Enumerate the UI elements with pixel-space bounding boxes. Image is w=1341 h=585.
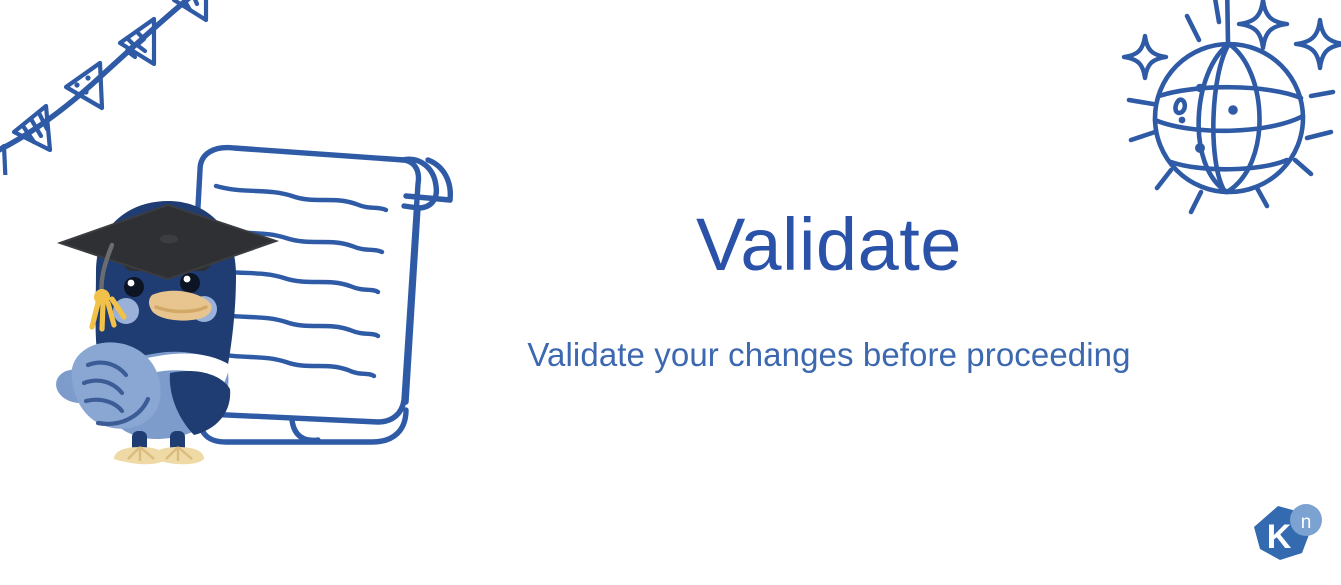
bunting-flag-stripes [14,106,50,150]
bunting-flag-plain [174,0,206,20]
hero-illustration [52,138,462,468]
page-title: Validate [468,208,1190,282]
logo-letter-n: n [1301,512,1312,533]
disco-ball-decoration [1115,0,1341,227]
sparkle-icon [1124,0,1341,78]
logo-letter-k: K [1267,518,1292,556]
hero-text-block: Validate Validate your changes before pr… [468,208,1190,371]
bunting-flag-dots [66,63,102,108]
graduate-bird-mascot [52,183,282,468]
brand-logo[interactable]: K n [1248,500,1324,570]
page-subtitle: Validate your changes before proceeding [468,338,1190,371]
disco-rays [1129,0,1333,212]
page-canvas: Validate Validate your changes before pr… [0,0,1341,585]
bunting-flag-zigzag [120,19,154,64]
bunting-flag-edge [0,146,6,175]
